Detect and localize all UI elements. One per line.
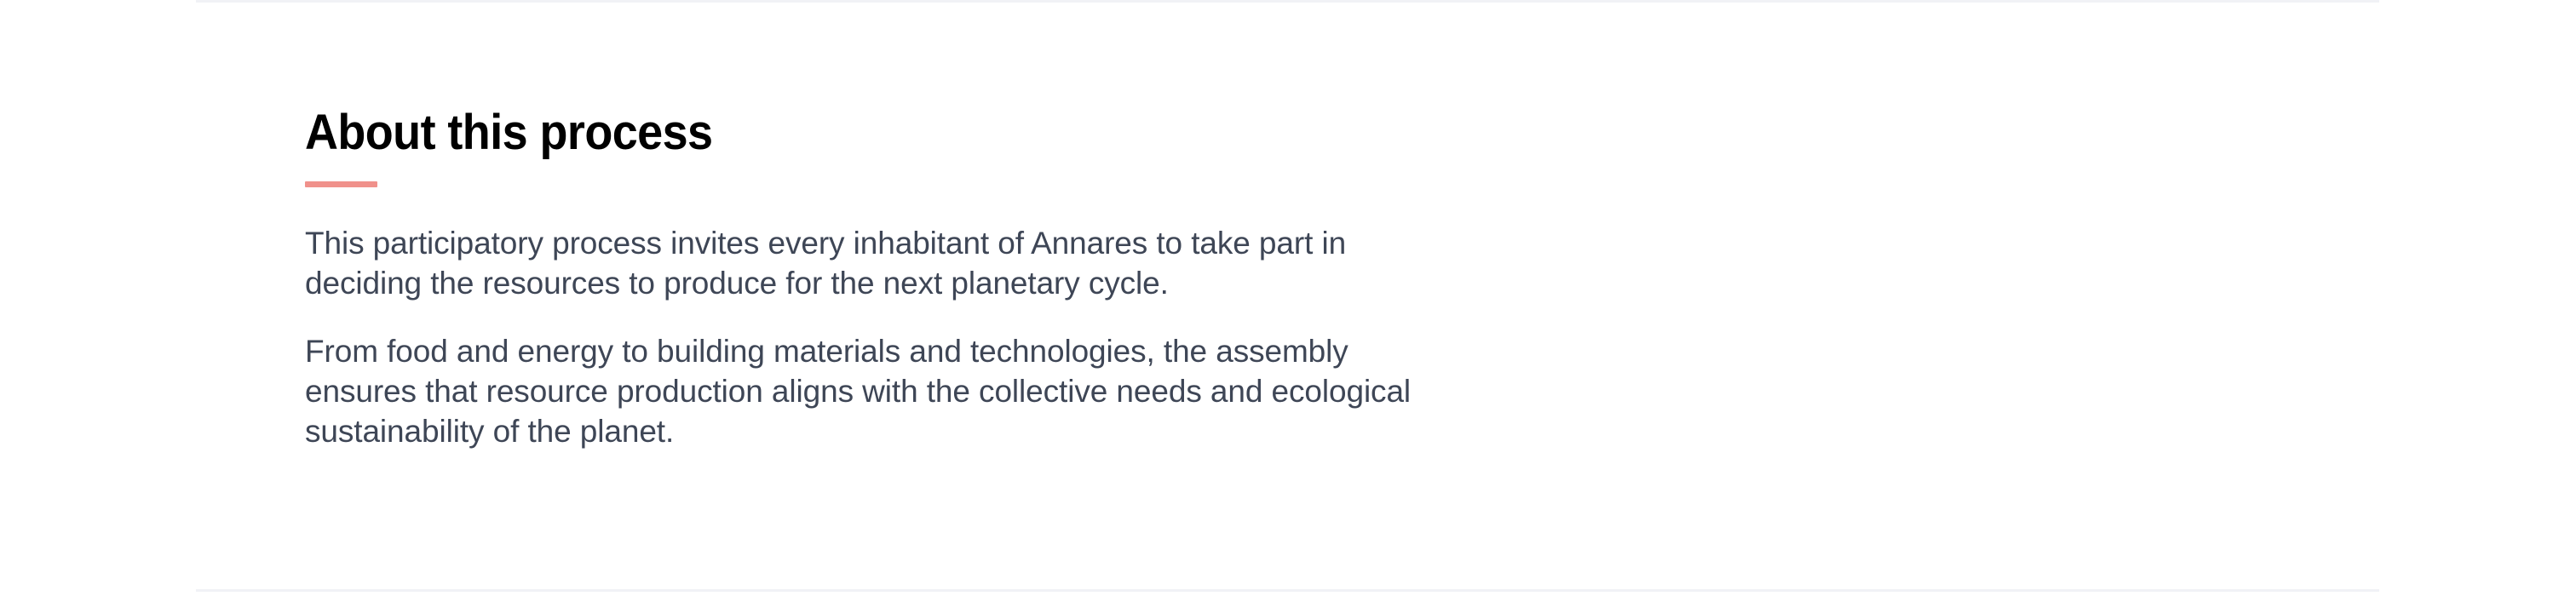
page-root: About this process This participatory pr… xyxy=(0,0,2576,596)
section-divider-bottom xyxy=(196,589,2379,592)
page-title: About this process xyxy=(305,102,712,163)
about-description: This participatory process invites every… xyxy=(305,223,1451,451)
section-divider-top xyxy=(196,0,2379,3)
about-paragraph-2: From food and energy to building materia… xyxy=(305,331,1451,451)
heading-accent-underline xyxy=(305,181,377,187)
about-paragraph-1: This participatory process invites every… xyxy=(305,223,1451,303)
